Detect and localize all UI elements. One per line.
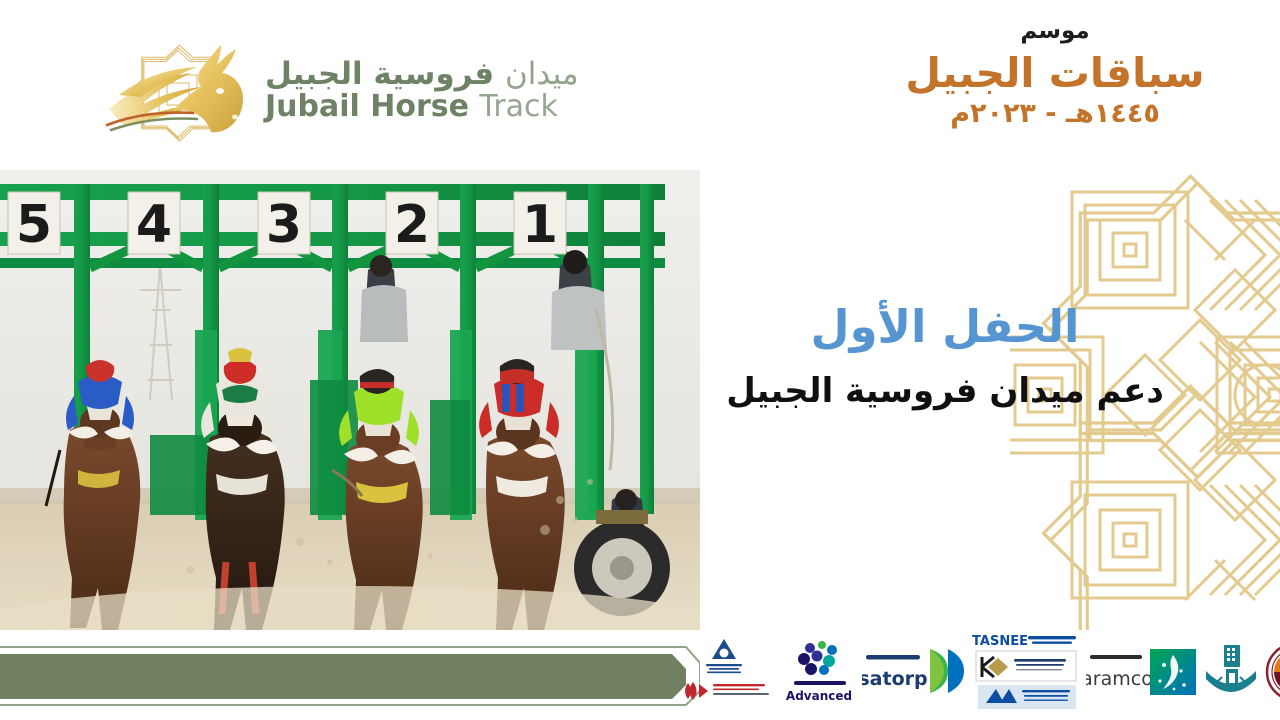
brand-text-block: ميدان فروسية الجبيل Jubail Horse Track: [265, 57, 579, 131]
brand-arabic-main: فروسية الجبيل: [265, 56, 494, 92]
svg-text:4: 4: [136, 195, 172, 255]
season-kicker: موسم: [890, 18, 1220, 46]
horse-head-rosette-logo: [105, 29, 255, 159]
svg-text:Advanced: Advanced: [786, 689, 852, 703]
brand-lockup: ميدان فروسية الجبيل Jubail Horse Track: [105, 24, 605, 164]
sponsor-logo-group-right: TASNEE: [970, 630, 1082, 714]
aramco-logo: aramco: [1086, 630, 1198, 714]
brand-english-suffix: Track: [479, 89, 558, 124]
svg-text:5: 5: [16, 195, 52, 255]
madinah-municipality-logo: [706, 639, 742, 673]
brand-arabic-name: ميدان فروسية الجبيل: [265, 57, 579, 92]
svg-text:satorp: satorp: [862, 668, 928, 690]
brand-english-name: Jubail Horse Track: [265, 90, 579, 123]
am-contracting-logo: [978, 685, 1076, 709]
svg-text:TASNEE: TASNEE: [972, 634, 1028, 649]
brand-arabic-prefix: ميدان: [505, 56, 579, 92]
tasnee-logo: TASNEE: [972, 634, 1076, 649]
page-title: الحفل الأول: [665, 300, 1225, 354]
royal-commission-logo: [1202, 630, 1260, 714]
advanced-petrochemical-logo: Advanced: [780, 630, 858, 714]
sponsor-logo-strip: Advanced satorp TASNEE: [680, 628, 1280, 716]
svg-text:1: 1: [522, 195, 558, 255]
horse-race-starting-gate-photo: 5 4 3 2 1: [0, 170, 700, 630]
satorp-logo: satorp: [862, 630, 966, 714]
brand-english-main: Jubail Horse: [265, 89, 469, 124]
season-years: ١٤٤٥هـ - ٢٠٢٣م: [890, 98, 1220, 130]
equestrian-authority-logo: [1264, 630, 1280, 714]
season-title: سباقات الجبيل: [890, 49, 1220, 97]
svg-text:3: 3: [266, 195, 302, 255]
poster-canvas: ميدان فروسية الجبيل Jubail Horse Track م…: [0, 0, 1280, 720]
page-subtitle: دعم ميدان فروسية الجبيل: [665, 370, 1225, 413]
khatim-international-logo: [685, 682, 769, 700]
svg-text:aramco: aramco: [1086, 668, 1153, 690]
season-block: موسم سباقات الجبيل ١٤٤٥هـ - ٢٠٢٣م: [890, 18, 1220, 130]
sponsor-logo-group-left: [680, 630, 776, 714]
green-ribbon-banner: [0, 645, 700, 707]
svg-text:2: 2: [394, 195, 430, 255]
al-khater-group-logo: [982, 657, 1066, 677]
headline-block: الحفل الأول دعم ميدان فروسية الجبيل: [665, 300, 1225, 413]
